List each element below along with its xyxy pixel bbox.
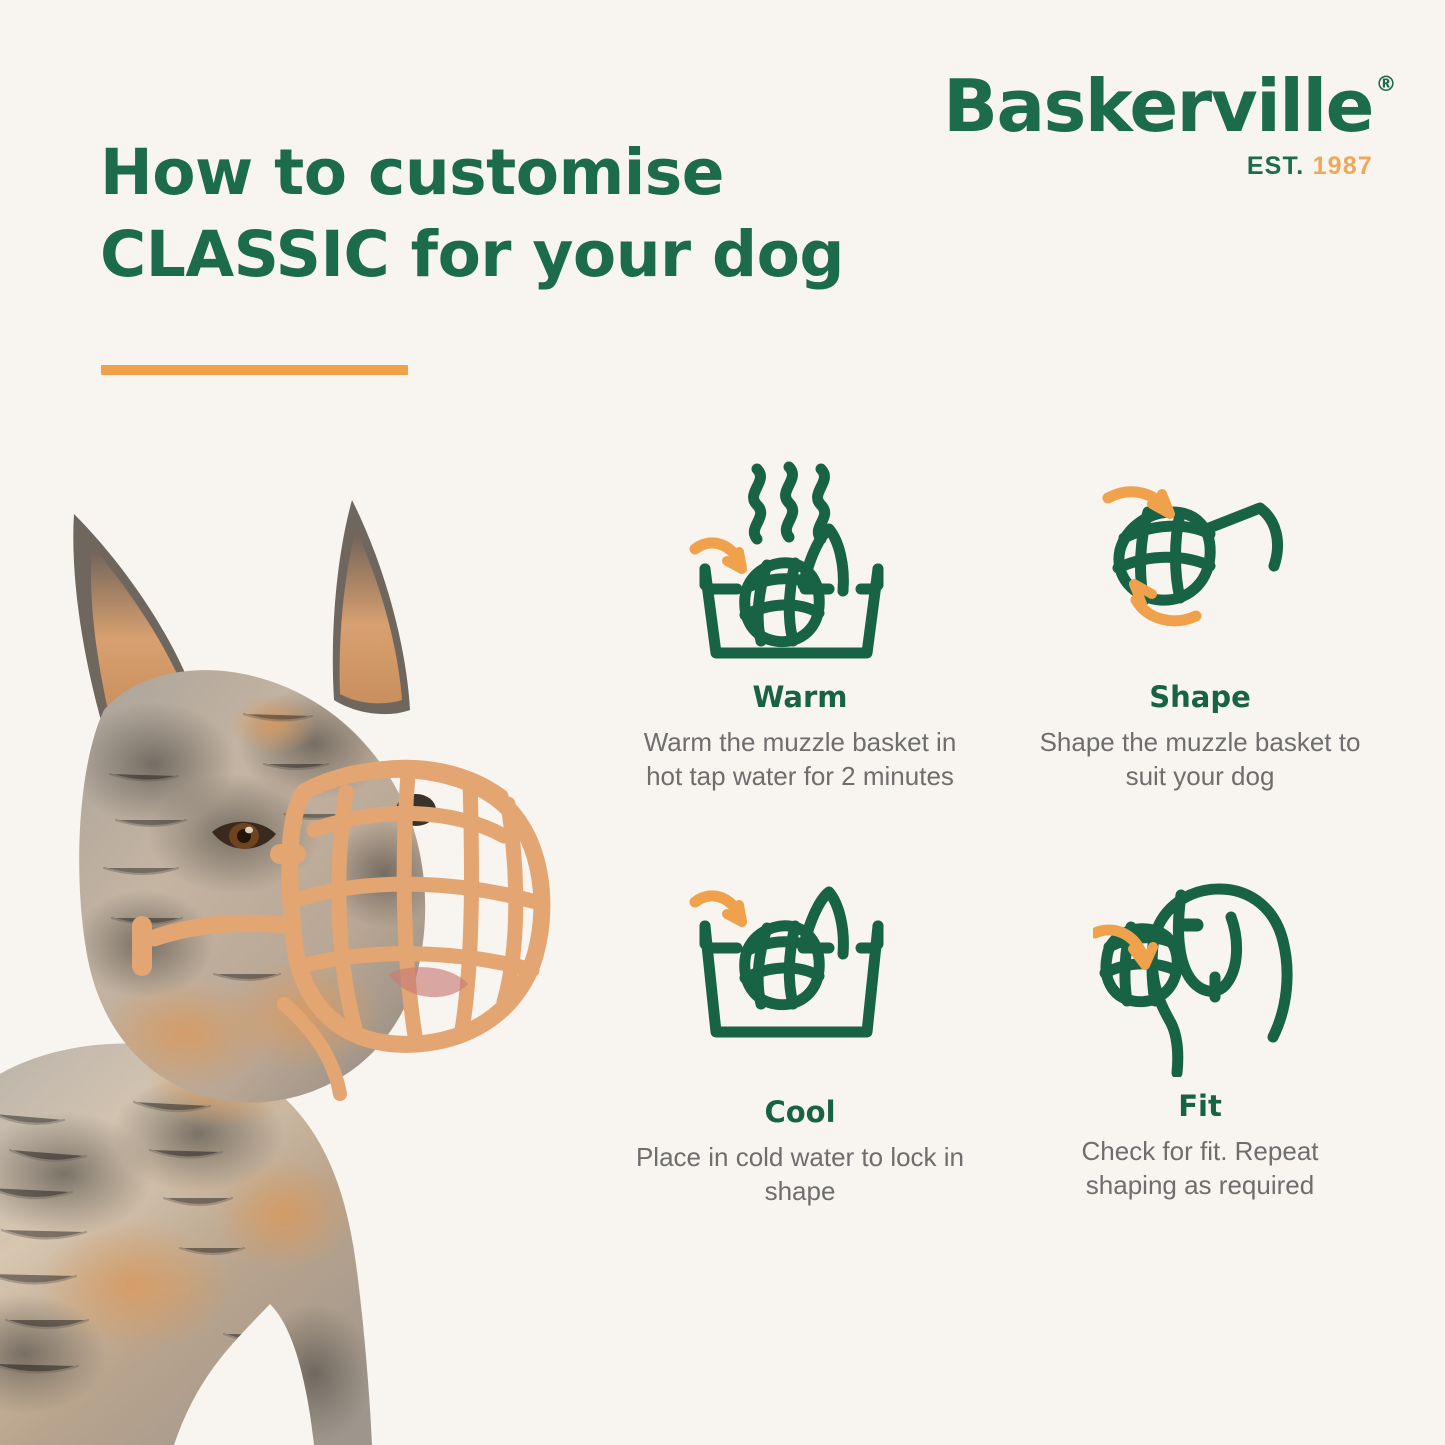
step-title-cool: Cool bbox=[764, 1095, 835, 1129]
step-title-warm: Warm bbox=[752, 680, 847, 714]
steam-lines-icon bbox=[754, 467, 825, 539]
step-card-fit: Fit Check for fit. Repeat shaping as req… bbox=[1000, 867, 1400, 1282]
step-description-shape: Shape the muzzle basket to suit your dog bbox=[1035, 726, 1365, 794]
muzzle-squeeze-arrows-icon bbox=[1100, 452, 1300, 672]
infographic-page: Baskerville ® EST. 1987 How to customise… bbox=[0, 0, 1445, 1445]
dog-illustration-svg bbox=[0, 474, 570, 1445]
steps-grid: Warm Warm the muzzle basket in hot tap w… bbox=[600, 452, 1400, 1282]
page-title: How to customise CLASSIC for your dog bbox=[100, 132, 844, 296]
accent-rule-divider bbox=[101, 365, 408, 375]
brand-logo: Baskerville ® EST. 1987 bbox=[943, 70, 1373, 181]
basin-cold-muzzle-icon bbox=[685, 867, 915, 1087]
brand-established: EST. 1987 bbox=[943, 152, 1373, 181]
step-description-fit: Check for fit. Repeat shaping as require… bbox=[1035, 1135, 1365, 1203]
basin-steam-muzzle-icon bbox=[685, 452, 915, 672]
step-title-fit: Fit bbox=[1178, 1089, 1222, 1123]
brand-name: Baskerville bbox=[943, 64, 1373, 148]
down-arrow-icon bbox=[695, 896, 742, 922]
registered-trademark-icon: ® bbox=[1376, 74, 1396, 95]
step-card-warm: Warm Warm the muzzle basket in hot tap w… bbox=[600, 452, 1000, 867]
dog-body bbox=[0, 1040, 374, 1445]
step-card-cool: Cool Place in cold water to lock in shap… bbox=[600, 867, 1000, 1282]
brand-wordmark: Baskerville ® bbox=[943, 70, 1373, 142]
est-year: 1987 bbox=[1313, 152, 1373, 180]
step-description-cool: Place in cold water to lock in shape bbox=[635, 1141, 965, 1209]
headline-line-2: CLASSIC for your dog bbox=[100, 218, 844, 291]
step-description-warm: Warm the muzzle basket in hot tap water … bbox=[635, 726, 965, 794]
est-label: EST. bbox=[1247, 152, 1305, 180]
headline-line-1: How to customise bbox=[100, 136, 724, 209]
step-title-shape: Shape bbox=[1149, 680, 1251, 714]
dog-photo bbox=[0, 474, 570, 1445]
dog-head-muzzle-fit-icon bbox=[1093, 867, 1308, 1087]
step-card-shape: Shape Shape the muzzle basket to suit yo… bbox=[1000, 452, 1400, 867]
